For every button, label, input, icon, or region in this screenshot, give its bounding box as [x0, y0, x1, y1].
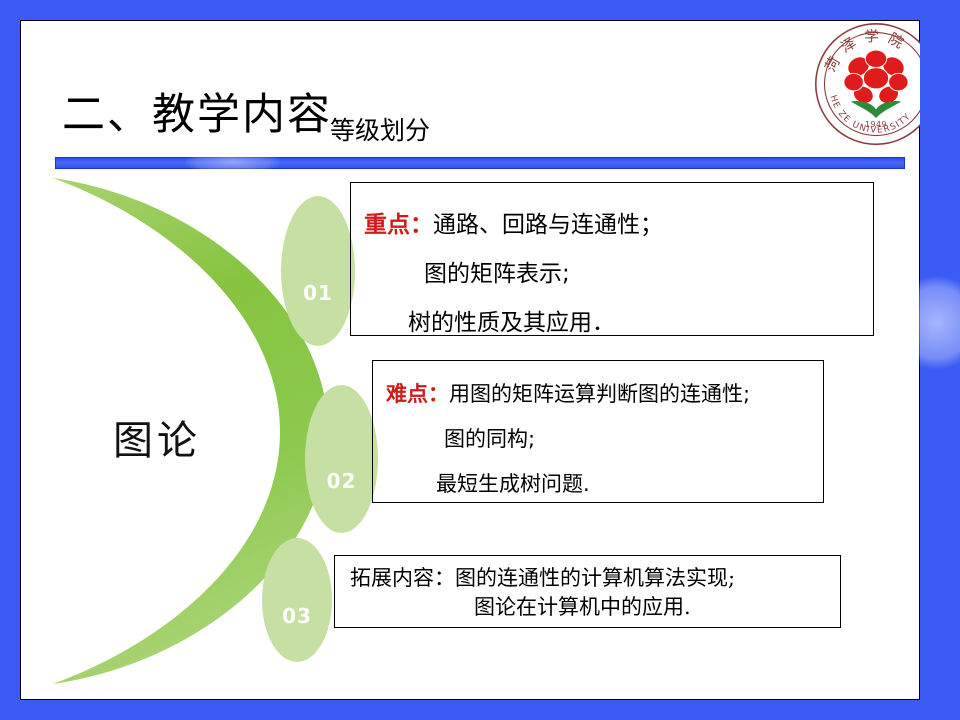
content-line: 图论在计算机中的应用.: [350, 593, 735, 622]
logo-year: 1949: [865, 120, 887, 129]
step-marker-01-label: 01: [303, 281, 333, 305]
step-marker-02[interactable]: 02: [305, 385, 378, 533]
title-divider-bar: [55, 157, 905, 169]
page-title-main: 二、教学内容: [62, 90, 332, 140]
content-line: 最短生成树问题.: [386, 462, 750, 507]
content-box-difficult-points: 难点：用图的矩阵运算判断图的连通性; 图的同构; 最短生成树问题.: [372, 360, 824, 503]
extended-content-label: 拓展内容：: [350, 566, 455, 590]
slide-canvas: 01 02 03 图论 重点：通路、回路与连通性； 图的矩阵表示; 树的性质及其…: [0, 0, 960, 720]
key-points-label: 重点：: [364, 212, 433, 238]
step-marker-03[interactable]: 03: [262, 538, 332, 662]
content-line: 图的同构;: [386, 417, 750, 462]
difficult-points-line-1: 用图的矩阵运算判断图的连通性;: [449, 382, 750, 406]
frame-right-bar: [920, 0, 960, 720]
content-line: 图的矩阵表示;: [364, 250, 663, 299]
content-line: 难点：用图的矩阵运算判断图的连通性;: [386, 372, 750, 417]
content-box-difficult-points-body: 难点：用图的矩阵运算判断图的连通性; 图的同构; 最短生成树问题.: [386, 372, 750, 507]
difficult-points-line-3: 最短生成树问题.: [436, 472, 590, 496]
extended-content-line-2: 图论在计算机中的应用.: [474, 595, 691, 619]
extended-content-line-1: 图的连通性的计算机算法实现;: [455, 566, 735, 590]
difficult-points-line-2: 图的同构;: [444, 427, 535, 451]
subject-label: 图论: [113, 408, 201, 466]
key-points-line-2: 图的矩阵表示;: [424, 261, 570, 287]
content-line: 树的性质及其应用．: [364, 299, 663, 348]
step-marker-02-label: 02: [327, 469, 357, 493]
frame-left-bar: [0, 0, 20, 720]
content-line: 拓展内容：图的连通性的计算机算法实现;: [350, 564, 735, 593]
key-points-line-3: 树的性质及其应用．: [408, 310, 615, 336]
frame-top-bar: [0, 0, 960, 20]
frame-bottom-bar: [0, 700, 960, 720]
content-box-extended-content: 拓展内容：图的连通性的计算机算法实现; 图论在计算机中的应用.: [334, 555, 841, 628]
step-marker-03-label: 03: [282, 604, 312, 628]
content-box-key-points-body: 重点：通路、回路与连通性； 图的矩阵表示; 树的性质及其应用．: [364, 201, 663, 348]
key-points-line-1: 通路、回路与连通性；: [433, 212, 663, 238]
content-box-extended-content-body: 拓展内容：图的连通性的计算机算法实现; 图论在计算机中的应用.: [350, 564, 735, 622]
content-line: 重点：通路、回路与连通性；: [364, 201, 663, 250]
step-marker-01[interactable]: 01: [281, 196, 355, 346]
difficult-points-label: 难点：: [386, 382, 449, 406]
content-box-key-points: 重点：通路、回路与连通性； 图的矩阵表示; 树的性质及其应用．: [350, 182, 874, 336]
page-title: 二、教学内容等级划分: [62, 94, 432, 137]
page-title-sub: 等级划分: [330, 116, 430, 145]
